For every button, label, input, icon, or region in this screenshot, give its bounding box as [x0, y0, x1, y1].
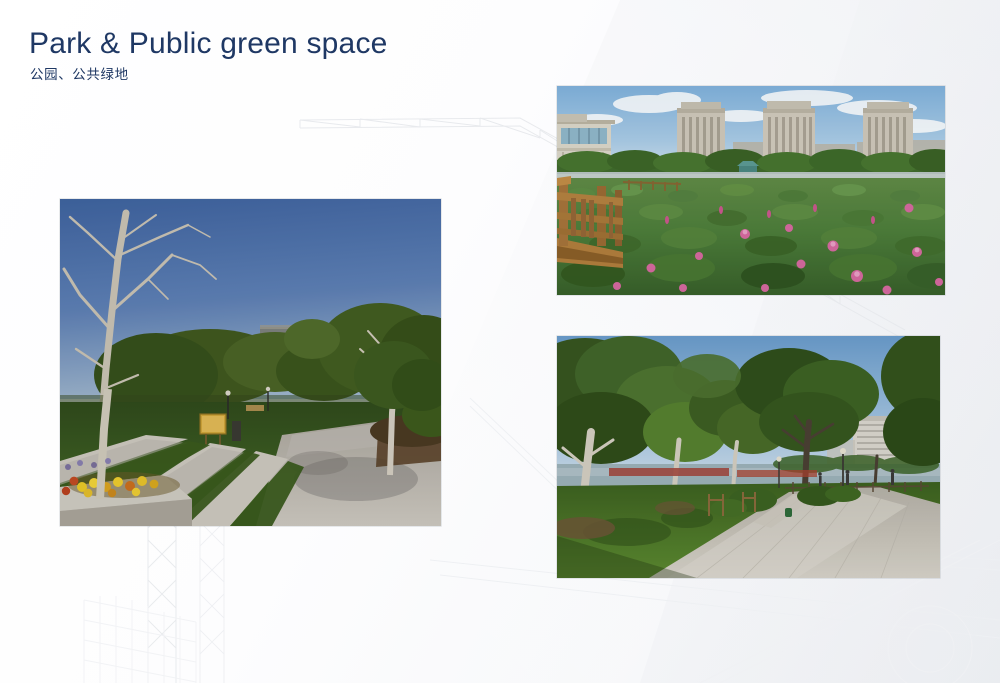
page-title: Park & Public green space	[29, 26, 629, 62]
photo-lakeside-path-image	[557, 336, 940, 578]
page-subtitle: 公园、公共绿地	[30, 67, 629, 84]
photo-lakeside-path	[557, 336, 940, 578]
photo-lotus-pond-image	[557, 86, 945, 295]
photo-lotus-pond	[557, 86, 945, 295]
photo-park-plaza-image	[60, 199, 441, 526]
photo-park-plaza	[60, 199, 441, 526]
slide-canvas: Park & Public green space 公园、公共绿地	[0, 0, 1000, 683]
heading-block: Park & Public green space 公园、公共绿地	[29, 26, 629, 84]
